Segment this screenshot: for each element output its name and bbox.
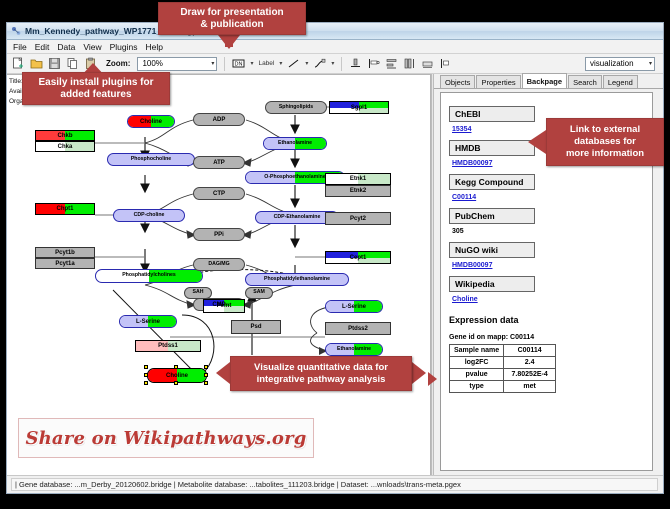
gene-ptdss1[interactable]: Ptdss1 (135, 340, 201, 352)
gene-pcyt2[interactable]: Pcyt2 (325, 212, 391, 225)
menu-item-help[interactable]: Help (146, 42, 163, 52)
chevron-down-icon-visualization: ▾ (649, 60, 652, 67)
distribute-icon[interactable] (385, 57, 398, 70)
callout-line-1: Easily install plugins for (38, 77, 153, 89)
gene-label: Psd (232, 321, 280, 333)
line-dropdown-icon[interactable]: ▾ (305, 60, 308, 67)
gene-pcyt1b[interactable]: Pcyt1b (35, 247, 95, 258)
tab-search[interactable]: Search (568, 75, 602, 88)
visualization-value: visualization (590, 59, 634, 68)
node-phosphatidylcholines[interactable]: Phosphatidylcholines (95, 269, 203, 283)
backpage-header-chebi: ChEBI (449, 106, 535, 122)
gene-etnk1[interactable]: Etnk1 (325, 173, 391, 185)
chevron-down-icon: ▾ (211, 60, 214, 67)
node-label: Phosphatidylethanolamine (246, 274, 348, 285)
gene-label: Chkb (36, 131, 94, 140)
node-label: SAH (185, 288, 211, 298)
node-label: PPi (194, 229, 244, 240)
node-label: Choline (128, 116, 174, 127)
new-file-icon[interactable] (12, 57, 25, 70)
toolbar-separator (224, 57, 225, 71)
node-label: SAM (246, 288, 272, 298)
gene-label: Pcyt1b (36, 248, 94, 257)
callout-line-2: integrative pathway analysis (257, 374, 386, 386)
callout-visualize-data: Visualize quantitative data for integrat… (230, 356, 412, 391)
toolbar-separator-2 (341, 57, 342, 71)
table-cell-key: pvalue (450, 369, 504, 381)
node-label: Sphingolipids (266, 102, 326, 113)
gene-label: Sgpl1 (330, 102, 388, 113)
menu-item-plugins[interactable]: Plugins (110, 42, 138, 52)
node-label: ATP (194, 157, 244, 168)
gene-label: Pcyt2 (326, 213, 390, 224)
align-top-icon[interactable] (349, 57, 362, 70)
label-dropdown-icon[interactable]: ▾ (279, 60, 282, 67)
callout-line-2: & publication (200, 19, 263, 31)
node-label: Phosphocholine (108, 154, 194, 165)
screenshot-root: Mm_Kennedy_pathway_WP1771_45176.gpml Fil… (0, 0, 670, 509)
shape-tool-icon[interactable] (313, 57, 326, 70)
tab-properties[interactable]: Properties (476, 75, 520, 88)
title-bar: Mm_Kennedy_pathway_WP1771_45176.gpml (7, 23, 663, 40)
gene-chkb[interactable]: Chkb (35, 130, 95, 141)
pathvisio-icon (11, 26, 21, 36)
node-ppi[interactable]: PPi (193, 228, 245, 241)
gene-ptdss2[interactable]: Ptdss2 (325, 322, 391, 335)
node-label: CDP-choline (114, 210, 184, 221)
callout-line-2: added features (60, 89, 131, 101)
gene-pcyt1a[interactable]: Pcyt1a (35, 258, 95, 269)
table-row: Sample name C00114 (450, 345, 556, 357)
callout-install-plugins: Easily install plugins for added feature… (22, 72, 170, 105)
backpage-header-hmdb: HMDB (449, 140, 535, 156)
share-text: Share on Wikipathways.org (25, 428, 306, 449)
callout-line-2: databases for (574, 136, 636, 148)
node-label: L-Serine (326, 301, 382, 312)
gene-cept1[interactable]: Cept1 (325, 251, 391, 264)
backpage-header-pubchem: PubChem (449, 208, 535, 224)
gene-pemt[interactable]: Pemt (203, 299, 245, 313)
backpage-header-nugo: NuGO wiki (449, 242, 535, 258)
gene-chka[interactable]: Chka (35, 141, 95, 152)
node-l-serine-right[interactable]: L-Serine (325, 300, 383, 313)
gene-label: Pemt (204, 300, 244, 312)
node-label: ADP (194, 114, 244, 125)
callout-link-external-db: Link to external databases for more info… (546, 118, 664, 166)
label-tool-icon[interactable]: Label (258, 60, 274, 67)
expression-data-table: Sample name C00114 log2FC 2.4 pvalue 7.8… (449, 344, 556, 393)
callout-visualize-arrow-left-icon (216, 362, 230, 384)
gene-label: Ptdss2 (326, 323, 390, 334)
side-panel-tabs: Objects Properties Backpage Search Legen… (434, 74, 663, 89)
visualization-combo[interactable]: visualization ▾ (585, 57, 655, 71)
table-row: log2FC 2.4 (450, 357, 556, 369)
node-label: Ethanolamine (326, 344, 382, 355)
backpage-link-kegg[interactable]: C00114 (452, 194, 644, 201)
zoom-label: Zoom: (106, 59, 130, 68)
node-ctp[interactable]: CTP (193, 187, 245, 200)
status-bar-text: | Gene database: ...m_Derby_20120602.bri… (11, 478, 658, 491)
svg-text:DN: DN (235, 62, 243, 68)
callout-line-1: Link to external (570, 124, 640, 136)
node-label: Ethanolamine (264, 138, 326, 149)
status-bar: | Gene database: ...m_Derby_20120602.bri… (7, 475, 663, 493)
align-left-icon[interactable] (367, 57, 380, 70)
gene-label: Pcyt1a (36, 259, 94, 268)
node-atp[interactable]: ATP (193, 156, 245, 169)
gene-etnk2[interactable]: Etnk2 (325, 185, 391, 197)
node-l-serine-left[interactable]: L-Serine (119, 315, 177, 328)
gene-label: Cept1 (326, 252, 390, 263)
callout-draw-arrow-icon (218, 35, 240, 49)
zoom-value: 100% (142, 59, 162, 68)
table-cell-key: Sample name (450, 345, 504, 357)
node-label: L-Serine (120, 316, 176, 327)
tab-legend[interactable]: Legend (603, 75, 638, 88)
open-file-icon[interactable] (30, 57, 43, 70)
backpage-link-nugo[interactable]: HMDB00097 (452, 262, 644, 269)
gene-label: Etnk2 (326, 186, 390, 196)
shape-dropdown-icon[interactable]: ▾ (331, 60, 334, 67)
backpage-header-kegg: Kegg Compound (449, 174, 535, 190)
menu-item-file[interactable]: File (13, 42, 27, 52)
node-dag-mg[interactable]: DAG/MG (193, 258, 245, 271)
gene-sgpl1[interactable]: Sgpl1 (329, 101, 389, 114)
backpage-link-wikipedia[interactable]: Choline (452, 296, 644, 303)
table-cell-key: type (450, 381, 504, 393)
node-phosphocholine[interactable]: Phosphocholine (107, 153, 195, 166)
node-choline-top[interactable]: Choline (127, 115, 175, 128)
stack-icon[interactable] (403, 57, 416, 70)
datanode-dropdown-icon[interactable]: ▾ (250, 60, 253, 67)
callout-link-arrow-icon (528, 130, 546, 154)
menu-bar: File Edit Data View Plugins Help (7, 40, 663, 54)
gene-label: Ptdss1 (136, 341, 200, 351)
node-sah[interactable]: SAH (184, 287, 212, 299)
table-row: type met (450, 381, 556, 393)
gene-chpt1[interactable]: Chpt1 (35, 203, 95, 215)
callout-expression-arrow-icon (428, 372, 437, 386)
callout-line-3: more information (566, 148, 644, 160)
expression-gene-id: Gene id on mapp: C00114 (449, 334, 644, 341)
callout-draw-for-publication: Draw for presentation & publication (158, 2, 306, 35)
node-ethanolamine-right[interactable]: Ethanolamine (325, 343, 383, 356)
table-cell-value: 2.4 (504, 357, 556, 369)
callout-line-1: Draw for presentation (180, 7, 283, 19)
datanode-tool-icon[interactable]: DN (232, 57, 245, 70)
table-cell-value: 7.80252E-4 (504, 369, 556, 381)
group-icon[interactable] (421, 57, 434, 70)
node-ethanolamine[interactable]: Ethanolamine (263, 137, 327, 150)
gene-psd[interactable]: Psd (231, 320, 281, 334)
gene-label: Chka (36, 142, 94, 151)
pathway-canvas[interactable]: Title: Availa Organi (7, 74, 431, 475)
tab-objects[interactable]: Objects (440, 75, 475, 88)
menu-item-edit[interactable]: Edit (35, 42, 50, 52)
gene-label: Chpt1 (36, 204, 94, 214)
line-tool-icon[interactable] (287, 57, 300, 70)
callout-visualize-arrow-right-icon (412, 362, 426, 384)
order-icon[interactable] (439, 57, 452, 70)
backpage-header-wikipedia: Wikipedia (449, 276, 535, 292)
tab-backpage[interactable]: Backpage (522, 73, 567, 88)
table-cell-value: met (504, 381, 556, 393)
save-file-icon[interactable] (48, 57, 61, 70)
expression-data-title: Expression data (449, 315, 644, 325)
zoom-combo[interactable]: 100% ▾ (137, 57, 217, 71)
node-label: Phosphatidylcholines (96, 270, 202, 282)
node-label: DAG/MG (194, 259, 244, 270)
table-cell-key: log2FC (450, 357, 504, 369)
menu-item-data[interactable]: Data (57, 42, 75, 52)
backpage-value-pubchem: 305 (452, 228, 644, 235)
node-phosphatidylethanolamine[interactable]: Phosphatidylethanolamine (245, 273, 349, 286)
node-cdp-choline[interactable]: CDP-choline (113, 209, 185, 222)
menu-item-view[interactable]: View (83, 42, 101, 52)
node-sam[interactable]: SAM (245, 287, 273, 299)
callout-line-1: Visualize quantitative data for (254, 362, 388, 374)
gene-label: Etnk1 (326, 174, 390, 184)
node-adp[interactable]: ADP (193, 113, 245, 126)
node-label: CTP (194, 188, 244, 199)
node-sphingolipids[interactable]: Sphingolipids (265, 101, 327, 114)
copy-icon[interactable] (66, 57, 79, 70)
table-cell-value: C00114 (504, 345, 556, 357)
callout-share-wikipathways: Share on Wikipathways.org (18, 418, 314, 458)
table-row: pvalue 7.80252E-4 (450, 369, 556, 381)
